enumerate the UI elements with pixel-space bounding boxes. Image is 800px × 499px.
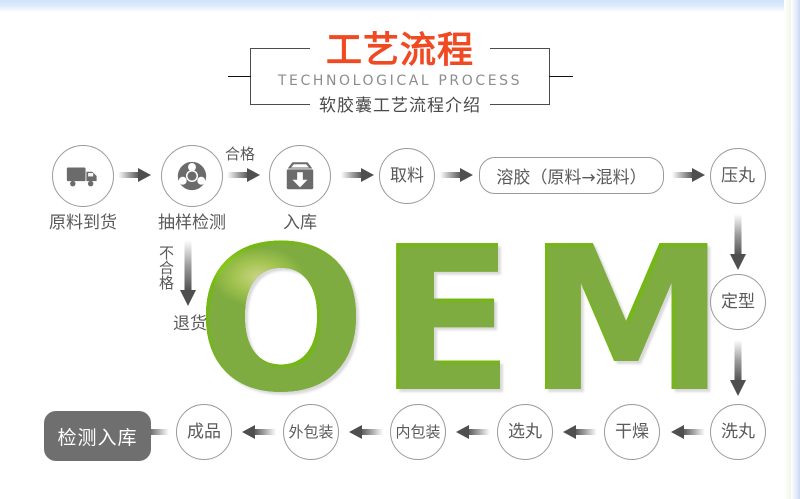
node-label-return-goods: 退货 [145, 314, 235, 334]
node-shaping[interactable]: 定型 [710, 274, 766, 330]
node-label-finished-product: 成品 [187, 422, 221, 442]
node-label-outer-packing: 外包装 [288, 422, 333, 442]
arrow-reject-down [178, 240, 198, 308]
box-inbound-icon [283, 159, 317, 193]
flowchart-page: 工艺流程 TECHNOLOGICAL PROCESS 软胶囊工艺流程介绍 OEM… [0, 0, 800, 499]
page-edge-top-tint [0, 0, 800, 12]
node-outer-packing[interactable]: 外包装 [283, 404, 339, 460]
arrow-label-qualified: 合格 [225, 146, 255, 163]
arrow-outer-to-finished [240, 423, 276, 441]
arrow-raw-to-sampling [118, 166, 152, 184]
arrow-drying-to-select [561, 423, 597, 441]
node-label-inspect-stock-in: 检测入库 [57, 423, 137, 450]
node-label-material-pick: 取料 [390, 166, 424, 186]
arrow-select-to-inner-packing [454, 423, 490, 441]
arrow-solgel-to-press [672, 166, 706, 184]
arrow-inner-to-outer-packing [347, 423, 383, 441]
node-label-wash-pill: 洗丸 [721, 422, 755, 442]
node-label-sampling-inspection: 抽样检测 [137, 213, 247, 233]
node-label-select-pill: 选丸 [508, 422, 542, 442]
node-press-pill[interactable]: 压丸 [710, 148, 766, 204]
node-warehouse-in[interactable] [269, 145, 331, 207]
oem-watermark: OEM [196, 236, 716, 406]
node-raw-arrival[interactable] [52, 145, 114, 207]
node-sol-gel[interactable]: 溶胶（原料→混料） [479, 157, 664, 194]
node-label-drying: 干燥 [615, 422, 649, 442]
arrow-pick-to-solgel [440, 166, 474, 184]
node-select-pill[interactable]: 选丸 [497, 404, 553, 460]
node-label-raw-arrival: 原料到货 [28, 213, 138, 233]
node-label-inner-packing: 内包装 [395, 422, 440, 442]
node-wash-pill[interactable]: 洗丸 [710, 404, 766, 460]
node-label-press-pill: 压丸 [721, 166, 755, 186]
arrow-shaping-to-wash [728, 340, 748, 398]
truck-icon [66, 159, 100, 193]
page-title: 工艺流程 [0, 30, 800, 72]
node-inner-packing[interactable]: 内包装 [390, 404, 446, 460]
arrow-label-reject: 不合格 [157, 245, 174, 290]
page-subtitle-cn: 软胶囊工艺流程介绍 [0, 96, 800, 116]
header-block: 工艺流程 TECHNOLOGICAL PROCESS 软胶囊工艺流程介绍 [0, 14, 800, 119]
node-finished-product[interactable]: 成品 [176, 404, 232, 460]
node-label-sol-gel: 溶胶（原料→混料） [496, 163, 646, 188]
node-inspect-stock-in[interactable]: 检测入库 [44, 411, 151, 461]
arrow-wash-to-drying [669, 423, 705, 441]
node-label-warehouse-in: 入库 [250, 213, 350, 233]
page-subtitle-en: TECHNOLOGICAL PROCESS [0, 73, 800, 89]
node-drying[interactable]: 干燥 [604, 404, 660, 460]
node-label-shaping: 定型 [721, 292, 755, 312]
arrow-press-to-shaping [728, 214, 748, 272]
arrow-warehouse-to-pick [341, 166, 375, 184]
node-material-pick[interactable]: 取料 [379, 148, 435, 204]
inspection-icon [175, 159, 209, 193]
arrow-sampling-to-warehouse [227, 166, 261, 184]
node-sampling-inspection[interactable] [161, 145, 223, 207]
